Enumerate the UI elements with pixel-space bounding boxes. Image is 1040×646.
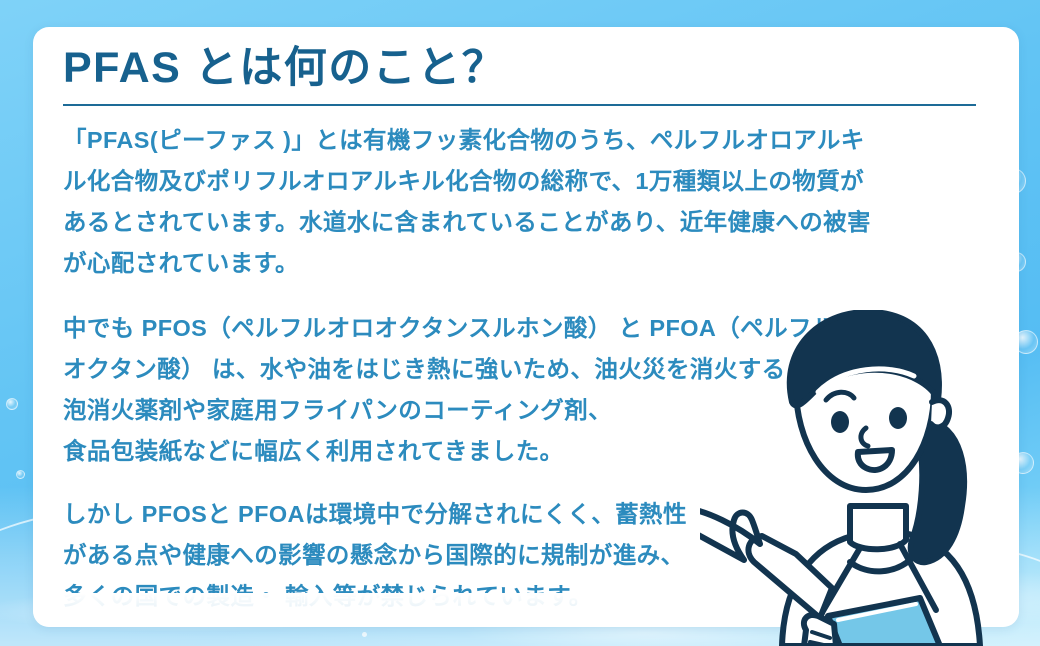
card-bottom-fade — [33, 593, 1019, 627]
paragraph-line: ル化合物及びポリフルオロアルキル化合物の総称で、1万種類以上の物質が — [63, 161, 999, 202]
bubble-icon — [16, 470, 25, 479]
paragraph-line: 「PFAS(ピーファス )」とは有機フッ素化合物のうち、ペルフルオロアルキ — [63, 120, 999, 161]
paragraph-definition: 「PFAS(ピーファス )」とは有機フッ素化合物のうち、ペルフルオロアルキ ル化… — [63, 120, 999, 284]
paragraph-line: 中でも PFOS（ペルフルオロオクタンスルホン酸） と PFOA（ペルフルオロ — [63, 308, 999, 349]
paragraph-line: がある点や健康への影響の懸念から国際的に規制が進み、 — [63, 535, 999, 576]
paragraph-line: あるとされています。水道水に含まれていることがあり、近年健康への被害 — [63, 202, 999, 243]
paragraph-line: が心配されています。 — [63, 243, 999, 284]
page-title: PFAS とは何のこと？ — [63, 45, 999, 92]
card-content: PFAS とは何のこと？ 「PFAS(ピーファス )」とは有機フッ素化合物のうち… — [63, 45, 999, 617]
title-divider — [63, 104, 976, 106]
paragraph-line: 食品包装紙などに幅広く利用されてきました。 — [63, 431, 999, 472]
paragraph-line: オクタン酸） は、水や油をはじき熱に強いため、油火災を消火する — [63, 349, 999, 390]
paragraph-pfos-pfoa-uses: 中でも PFOS（ペルフルオロオクタンスルホン酸） と PFOA（ペルフルオロ … — [63, 308, 999, 472]
bubble-icon — [6, 398, 18, 410]
info-card: PFAS とは何のこと？ 「PFAS(ピーファス )」とは有機フッ素化合物のうち… — [33, 27, 1019, 627]
paragraph-line: しかし PFOSと PFOAは環境中で分解されにくく、蓄熱性 — [63, 494, 999, 535]
paragraph-line: 泡消火薬剤や家庭用フライパンのコーティング剤、 — [63, 390, 999, 431]
